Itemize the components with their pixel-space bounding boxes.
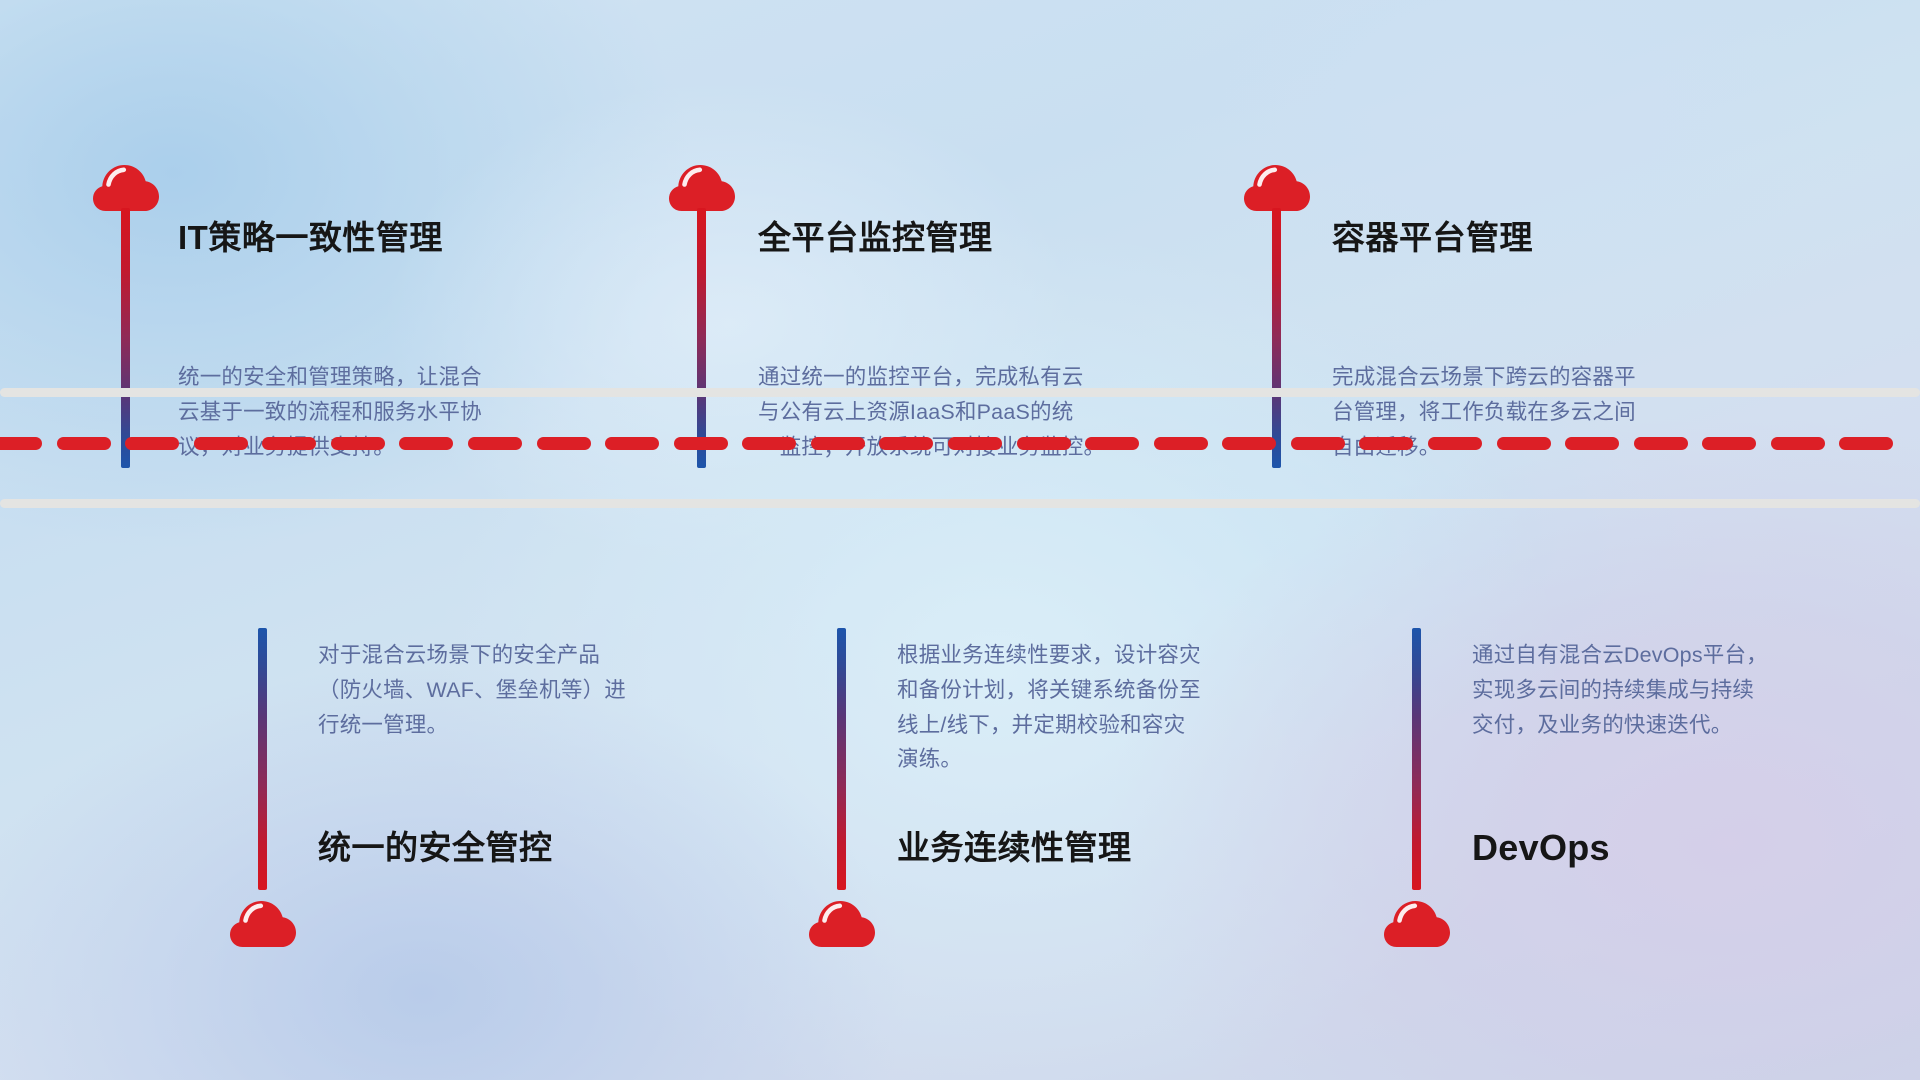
feature-title: DevOps (1472, 826, 1610, 869)
divider-dash (125, 437, 179, 450)
cloud-icon (808, 898, 876, 948)
divider-dashed-line (0, 437, 1920, 450)
divider-dash (605, 437, 659, 450)
divider-dash (0, 437, 42, 450)
divider-dash (674, 437, 728, 450)
divider-dash (537, 437, 591, 450)
divider-dash (1771, 437, 1825, 450)
divider-dash (1634, 437, 1688, 450)
divider-rail-bottom (0, 499, 1920, 508)
divider-dash (1359, 437, 1413, 450)
divider-dash (1497, 437, 1551, 450)
divider-dash (879, 437, 933, 450)
divider-dash (1017, 437, 1071, 450)
divider-dash (811, 437, 865, 450)
cloud-icon (668, 162, 736, 212)
feature-title: 全平台监控管理 (758, 218, 993, 258)
timeline-stem (1412, 628, 1421, 890)
divider-dash (331, 437, 385, 450)
cloud-icon (229, 898, 297, 948)
divider-dash (262, 437, 316, 450)
divider-dash (1222, 437, 1276, 450)
infographic-canvas: IT策略一致性管理 统一的安全和管理策略，让混合 云基于一致的流程和服务水平协 … (0, 0, 1920, 1080)
feature-title: 统一的安全管控 (318, 828, 553, 868)
feature-title: 业务连续性管理 (897, 828, 1132, 868)
divider-dash (1154, 437, 1208, 450)
divider-dash (948, 437, 1002, 450)
cloud-icon (1383, 898, 1451, 948)
divider-dash (1085, 437, 1139, 450)
divider-dash (742, 437, 796, 450)
divider-dash (399, 437, 453, 450)
feature-title: IT策略一致性管理 (178, 218, 443, 258)
feature-description: 对于混合云场景下的安全产品 （防火墙、WAF、堡垒机等）进 行统一管理。 (318, 638, 748, 742)
timeline-stem (837, 628, 846, 890)
section-divider (0, 388, 1920, 508)
cloud-icon (92, 162, 160, 212)
divider-rail-top (0, 388, 1920, 397)
divider-dash (57, 437, 111, 450)
feature-description: 根据业务连续性要求，设计容灾 和备份计划，将关键系统备份至 线上/线下，并定期校… (897, 638, 1337, 777)
divider-dash (194, 437, 248, 450)
divider-dash (1702, 437, 1756, 450)
divider-dash (1291, 437, 1345, 450)
divider-dash (1428, 437, 1482, 450)
cloud-icon (1243, 162, 1311, 212)
feature-description: 通过自有混合云DevOps平台， 实现多云间的持续集成与持续 交付，及业务的快速… (1472, 638, 1902, 742)
divider-dash (1565, 437, 1619, 450)
feature-title: 容器平台管理 (1332, 218, 1533, 258)
divider-dash (1839, 437, 1893, 450)
timeline-stem (258, 628, 267, 890)
divider-dash (468, 437, 522, 450)
